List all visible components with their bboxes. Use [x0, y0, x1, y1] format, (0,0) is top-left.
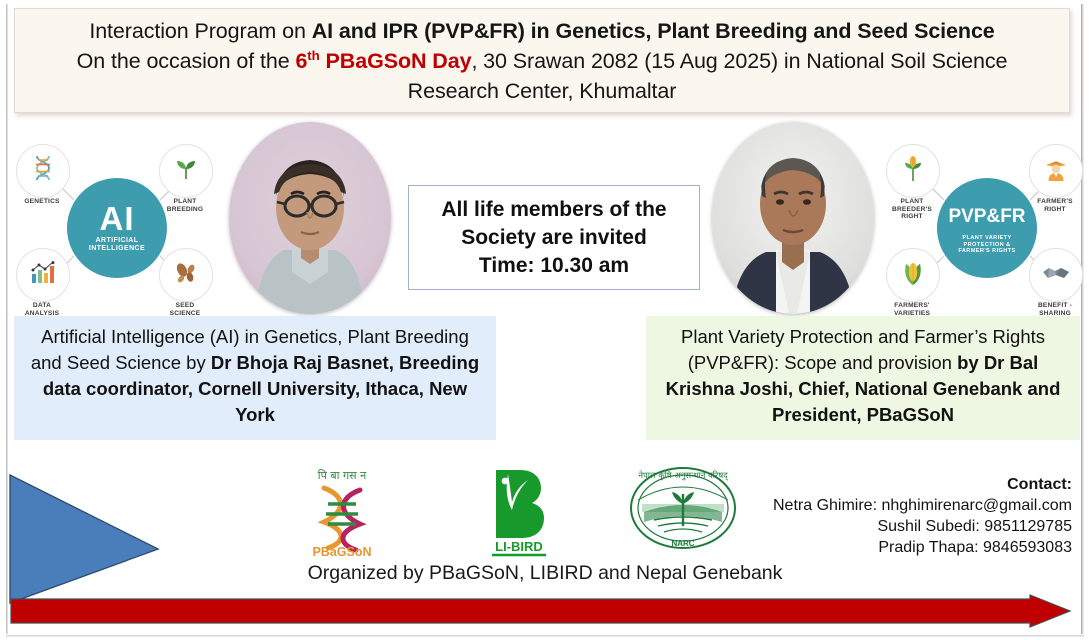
- title-line-2-prefix: On the occasion of the: [77, 49, 296, 73]
- farmer-icon-svg: [1043, 157, 1069, 181]
- pvpfr-center-sub-line2: PROTECTION &: [958, 242, 1015, 249]
- title-line-1: Interaction Program on AI and IPR (PVP&F…: [89, 16, 994, 46]
- pbagson-logo: पि बा गस न PBaGSoN: [288, 466, 396, 558]
- pvpfr-center-sub-line3: FARMER'S RIGHTS: [958, 248, 1015, 255]
- title-ordinal-number: 6: [295, 49, 307, 73]
- pbagson-wordmark: PBaGSoN: [312, 545, 371, 558]
- ai-center-sub-line1: ARTIFICIAL: [89, 237, 145, 245]
- speaker-photo-left-svg: [229, 122, 391, 314]
- invitation-box: All life members of the Society are invi…: [408, 185, 700, 290]
- session-caption-right-text: Plant Variety Protection and Farmer’s Ri…: [656, 324, 1070, 428]
- contact-block: Contact: Netra Ghimire: nhghimirenarc@gm…: [742, 474, 1072, 558]
- pvpfr-center-subtitle: PLANT VARIETY PROTECTION & FARMER'S RIGH…: [958, 235, 1015, 255]
- libird-logo: LI-BIRD: [482, 466, 556, 558]
- ai-center-circle: AI ARTIFICIAL INTELLIGENCE: [67, 178, 167, 278]
- handshake-icon: [1042, 263, 1070, 287]
- invite-line-2: Society are invited: [461, 224, 647, 252]
- seed-science-node: [159, 248, 213, 302]
- invite-line-1: All life members of the: [441, 196, 666, 224]
- benefit-sharing-label: BENEFIT - SHARING: [1012, 302, 1090, 317]
- wheat-icon-svg: [902, 156, 924, 182]
- corn-icon: [901, 260, 925, 290]
- title-line-1-bold: AI and IPR (PVP&FR) in Genetics, Plant B…: [312, 19, 995, 43]
- contact-line-2: Sushil Subedi: 9851129785: [742, 516, 1072, 537]
- ai-center-sub-line2: INTELLIGENCE: [89, 245, 145, 253]
- title-line-2: On the occasion of the 6th PBaGSoN Day, …: [77, 46, 1008, 76]
- pbagson-devanagari: पि बा गस न: [318, 469, 367, 482]
- event-poster: Interaction Program on AI and IPR (PVP&F…: [0, 0, 1090, 640]
- session-caption-left: Artificial Intelligence (AI) in Genetics…: [14, 316, 496, 440]
- speaker-photo-left: [229, 122, 391, 314]
- ai-center-subtitle: ARTIFICIAL INTELLIGENCE: [89, 237, 145, 254]
- fv-label-line1: FARMERS': [869, 302, 955, 310]
- benefit-sharing-node: [1029, 248, 1083, 302]
- title-occasion-highlight: 6th PBaGSoN Day: [295, 49, 471, 73]
- narc-devanagari: नेपाल कृषि अनुसन्धान परिषद्: [638, 470, 729, 481]
- seed-science-label-line1: SEED: [142, 302, 228, 310]
- organized-by-text: Organized by PBaGSoN, LIBIRD and Nepal G…: [0, 562, 1090, 585]
- title-occasion-name: PBaGSoN Day: [320, 49, 472, 73]
- invite-line-3: Time: 10.30 am: [479, 252, 629, 280]
- title-line-1-plain: Interaction Program on: [89, 19, 311, 43]
- ai-infographic: GENETICS PLANT BREEDING: [6, 128, 228, 308]
- seedling-icon-svg: [174, 157, 198, 181]
- contact-line-3: Pradip Thapa: 9846593083: [742, 537, 1072, 558]
- wheat-icon: [902, 156, 924, 186]
- red-arrow-decoration: [10, 594, 1072, 628]
- title-line-3: Research Center, Khumaltar: [408, 76, 677, 106]
- red-arrow-svg: [10, 594, 1072, 628]
- contact-line-1: Netra Ghimire: nhghimirenarc@gmail.com: [742, 495, 1072, 516]
- data-analysis-node: [16, 248, 70, 302]
- genetics-node: [16, 144, 70, 198]
- blue-triangle-svg: [8, 473, 160, 605]
- narc-logo-svg: नेपाल कृषि अनुसन्धान परिषद् NARC: [620, 464, 746, 560]
- farmer-icon: [1043, 157, 1069, 185]
- pvpfr-center-sub-line1: PLANT VARIETY: [958, 235, 1015, 242]
- farmers-varieties-node: [886, 248, 940, 302]
- bar-chart-icon-svg: [30, 261, 56, 285]
- dna-helix-icon-svg: [32, 155, 54, 183]
- libird-wordmark: LI-BIRD: [495, 539, 543, 554]
- corn-icon-svg: [901, 260, 925, 286]
- plant-breeding-node: [159, 144, 213, 198]
- narc-logo: नेपाल कृषि अनुसन्धान परिषद् NARC: [620, 464, 746, 560]
- ai-center-title: AI: [100, 203, 135, 235]
- bs-label-line1: BENEFIT -: [1012, 302, 1090, 310]
- title-ordinal-suffix: th: [307, 47, 319, 62]
- speaker-photo-right-svg: [712, 122, 874, 314]
- data-analysis-node-label: DATA ANALYSIS: [0, 302, 85, 317]
- title-line-2-suffix: , 30 Srawan 2082 (15 Aug 2025) in Nation…: [471, 49, 1007, 73]
- title-banner: Interaction Program on AI and IPR (PVP&F…: [14, 8, 1070, 113]
- narc-wordmark: NARC: [671, 539, 694, 548]
- libird-logo-svg: LI-BIRD: [482, 466, 556, 558]
- seedling-icon: [174, 157, 198, 185]
- blue-triangle-decoration: [8, 473, 160, 605]
- data-analysis-label-line1: DATA: [0, 302, 85, 310]
- seeds-icon-svg: [173, 262, 199, 284]
- frame-bottom-edge: [6, 635, 1084, 637]
- dna-helix-icon: [32, 155, 54, 187]
- frame-right-edge: [1081, 4, 1084, 634]
- pbagson-logo-svg: पि बा गस न PBaGSoN: [288, 466, 396, 558]
- farmers-right-node: [1029, 144, 1083, 198]
- handshake-icon-svg: [1042, 263, 1070, 283]
- pvpfr-center-circle: PVP&FR PLANT VARIETY PROTECTION & FARMER…: [937, 178, 1037, 278]
- farmers-varieties-label: FARMERS' VARIETIES: [869, 302, 955, 317]
- contact-heading: Contact:: [742, 474, 1072, 495]
- session-caption-left-text: Artificial Intelligence (AI) in Genetics…: [24, 324, 486, 428]
- pvpfr-center-title: PVP&FR: [948, 201, 1025, 233]
- seeds-icon: [173, 262, 199, 288]
- bar-chart-icon: [30, 261, 56, 289]
- pvpfr-infographic: PLANT BREEDER'S RIGHT FARMER'S RIGHT: [876, 128, 1090, 308]
- session-caption-right: Plant Variety Protection and Farmer’s Ri…: [646, 316, 1080, 440]
- plant-breeders-right-node: [886, 144, 940, 198]
- seed-science-node-label: SEED SCIENCE: [142, 302, 228, 317]
- speaker-photo-right: [712, 122, 874, 314]
